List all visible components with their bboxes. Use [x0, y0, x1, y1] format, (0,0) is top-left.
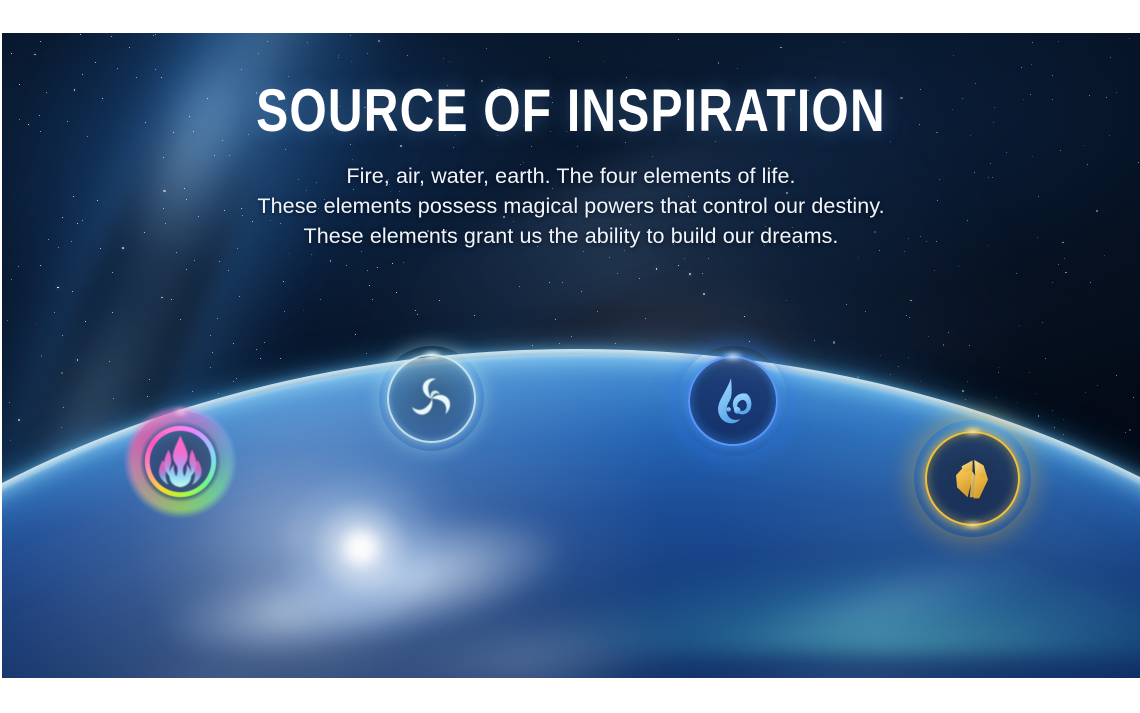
- crystal-gem-icon: [945, 451, 1000, 506]
- earth-ring-spark-bottom: [962, 521, 984, 529]
- flame-icon: [151, 432, 210, 491]
- earth-ring-spark: [963, 427, 983, 436]
- element-badge-fire[interactable]: [130, 411, 231, 512]
- hero-text-block: SOURCE OF INSPIRATION Fire, air, water, …: [2, 33, 1140, 251]
- element-badge-earth[interactable]: [925, 431, 1020, 526]
- hero-description: Fire, air, water, earth. The four elemen…: [2, 161, 1140, 251]
- element-badge-air[interactable]: [387, 354, 476, 443]
- hero-line-3: These elements grant us the ability to b…: [2, 221, 1140, 251]
- element-badge-water[interactable]: [688, 356, 778, 446]
- hero-line-1: Fire, air, water, earth. The four elemen…: [2, 161, 1140, 191]
- air-ring-spark: [423, 351, 441, 359]
- hero-banner: SOURCE OF INSPIRATION Fire, air, water, …: [2, 33, 1140, 678]
- whirlwind-spiral-icon: [406, 373, 458, 425]
- water-ring-spark: [723, 352, 743, 361]
- fire-ring-spark: [173, 408, 189, 416]
- page-title: SOURCE OF INSPIRATION: [116, 81, 1026, 141]
- page-root: SOURCE OF INSPIRATION Fire, air, water, …: [0, 0, 1140, 713]
- water-droplet-swirl-icon: [707, 375, 759, 427]
- hero-line-2: These elements possess magical powers th…: [2, 191, 1140, 221]
